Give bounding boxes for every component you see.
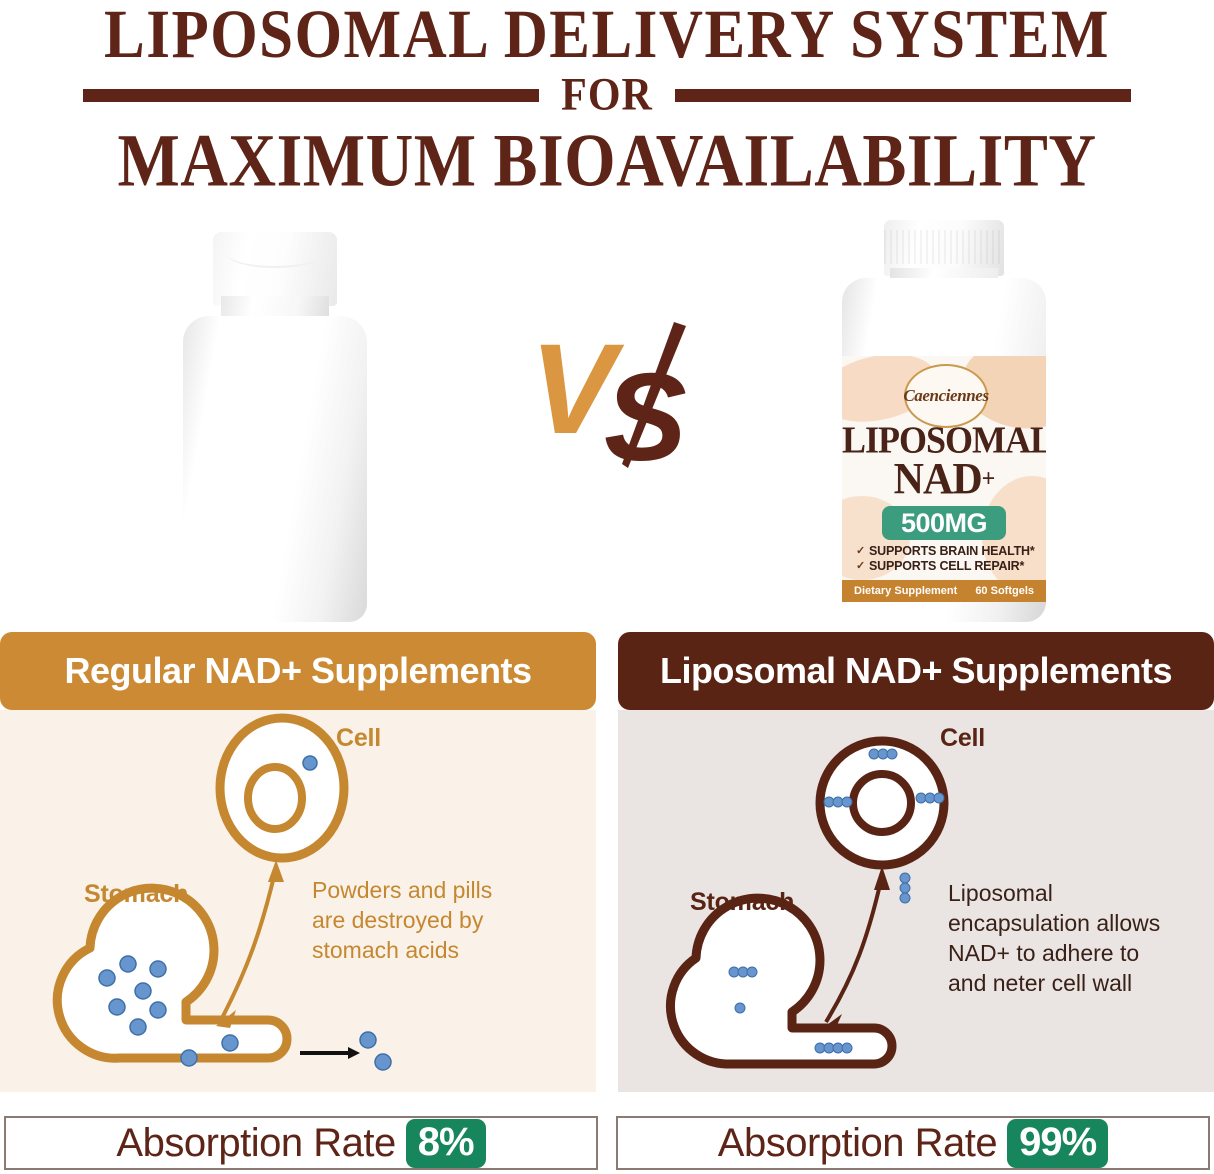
product-title-plus: + xyxy=(982,465,995,493)
count-text: 60 Softgels xyxy=(975,585,1034,597)
claim-item: ✓ SUPPORTS CELL REPAIR* xyxy=(856,559,1038,574)
absorption-rate-badge: 99% xyxy=(1007,1119,1108,1168)
panel-regular-body: Cell Stomach Powders and pills are destr… xyxy=(0,710,596,1092)
panel-liposomal: Liposomal NAD+ Supplements xyxy=(618,630,1214,1112)
product-title-line-2: NAD+ xyxy=(842,457,1046,502)
plain-bottle-body xyxy=(183,316,367,622)
title-connector-row: FOR xyxy=(0,72,1214,118)
claims-list: ✓ SUPPORTS BRAIN HEALTH* ✓ SUPPORTS CELL… xyxy=(856,544,1038,574)
title-line-1: LIPOSOMAL DELIVERY SYSTEM xyxy=(0,0,1214,72)
brand-name: Caenciennes xyxy=(903,386,988,406)
cell-label: Cell xyxy=(336,724,381,753)
panel-regular-header: Regular NAD+ Supplements xyxy=(0,632,596,710)
supplement-type: Dietary Supplement xyxy=(854,585,957,597)
plain-bottle-cap xyxy=(213,232,337,306)
absorption-rate-liposomal: Absorption Rate 99% xyxy=(616,1116,1210,1170)
liposomal-note-text: Liposomal encapsulation allows NAD+ to a… xyxy=(948,878,1178,998)
claim-text: SUPPORTS CELL REPAIR* xyxy=(869,559,1024,574)
check-icon: ✓ xyxy=(856,544,865,559)
regular-note-text: Powders and pills are destroyed by stoma… xyxy=(312,875,527,965)
panel-regular: Regular NAD+ Supplements xyxy=(0,630,596,1112)
product-comparison-row: V S Caenciennes LIPOSOMAL NAD+ xyxy=(0,214,1214,626)
absorption-rate-row: Absorption Rate 8% Absorption Rate 99% xyxy=(0,1116,1214,1174)
absorption-rate-label: Absorption Rate xyxy=(116,1121,395,1166)
panel-liposomal-body: Cell Stomach Liposomal encapsulation all… xyxy=(618,710,1214,1092)
absorption-rate-regular: Absorption Rate 8% xyxy=(4,1116,598,1170)
title-line-2: MAXIMUM BIOAVAILABILITY xyxy=(0,123,1214,201)
divider-rule-left xyxy=(83,89,539,102)
hero-title-block: LIPOSOMAL DELIVERY SYSTEM FOR MAXIMUM BI… xyxy=(0,0,1214,205)
plain-bottle-image xyxy=(175,232,375,622)
claim-text: SUPPORTS BRAIN HEALTH* xyxy=(869,544,1035,559)
nad-bottle-label: Caenciennes LIPOSOMAL NAD+ 500MG ✓ SUPPO… xyxy=(842,356,1046,602)
plain-bottle-highlight xyxy=(217,336,233,586)
product-title-line-1: LIPOSOMAL xyxy=(842,421,1046,459)
comparison-panels: Regular NAD+ Supplements xyxy=(0,630,1214,1112)
stomach-label: Stomach xyxy=(690,888,794,917)
panel-liposomal-header: Liposomal NAD+ Supplements xyxy=(618,632,1214,710)
title-connector: FOR xyxy=(561,69,653,122)
versus-mark: V S xyxy=(530,324,690,474)
stomach-label: Stomach xyxy=(84,880,188,909)
cell-label: Cell xyxy=(940,724,985,753)
product-title-nad: NAD xyxy=(894,455,982,504)
dose-badge: 500MG xyxy=(882,506,1006,540)
liposomal-bottle-image: Caenciennes LIPOSOMAL NAD+ 500MG ✓ SUPPO… xyxy=(836,220,1052,624)
divider-rule-right xyxy=(675,89,1131,102)
absorption-rate-label: Absorption Rate xyxy=(718,1121,997,1166)
check-icon: ✓ xyxy=(856,559,865,574)
nad-bottle-body: Caenciennes LIPOSOMAL NAD+ 500MG ✓ SUPPO… xyxy=(842,278,1046,622)
claim-item: ✓ SUPPORTS BRAIN HEALTH* xyxy=(856,544,1038,559)
absorption-rate-badge: 8% xyxy=(406,1119,486,1168)
label-footer-bar: Dietary Supplement 60 Softgels xyxy=(842,580,1046,602)
